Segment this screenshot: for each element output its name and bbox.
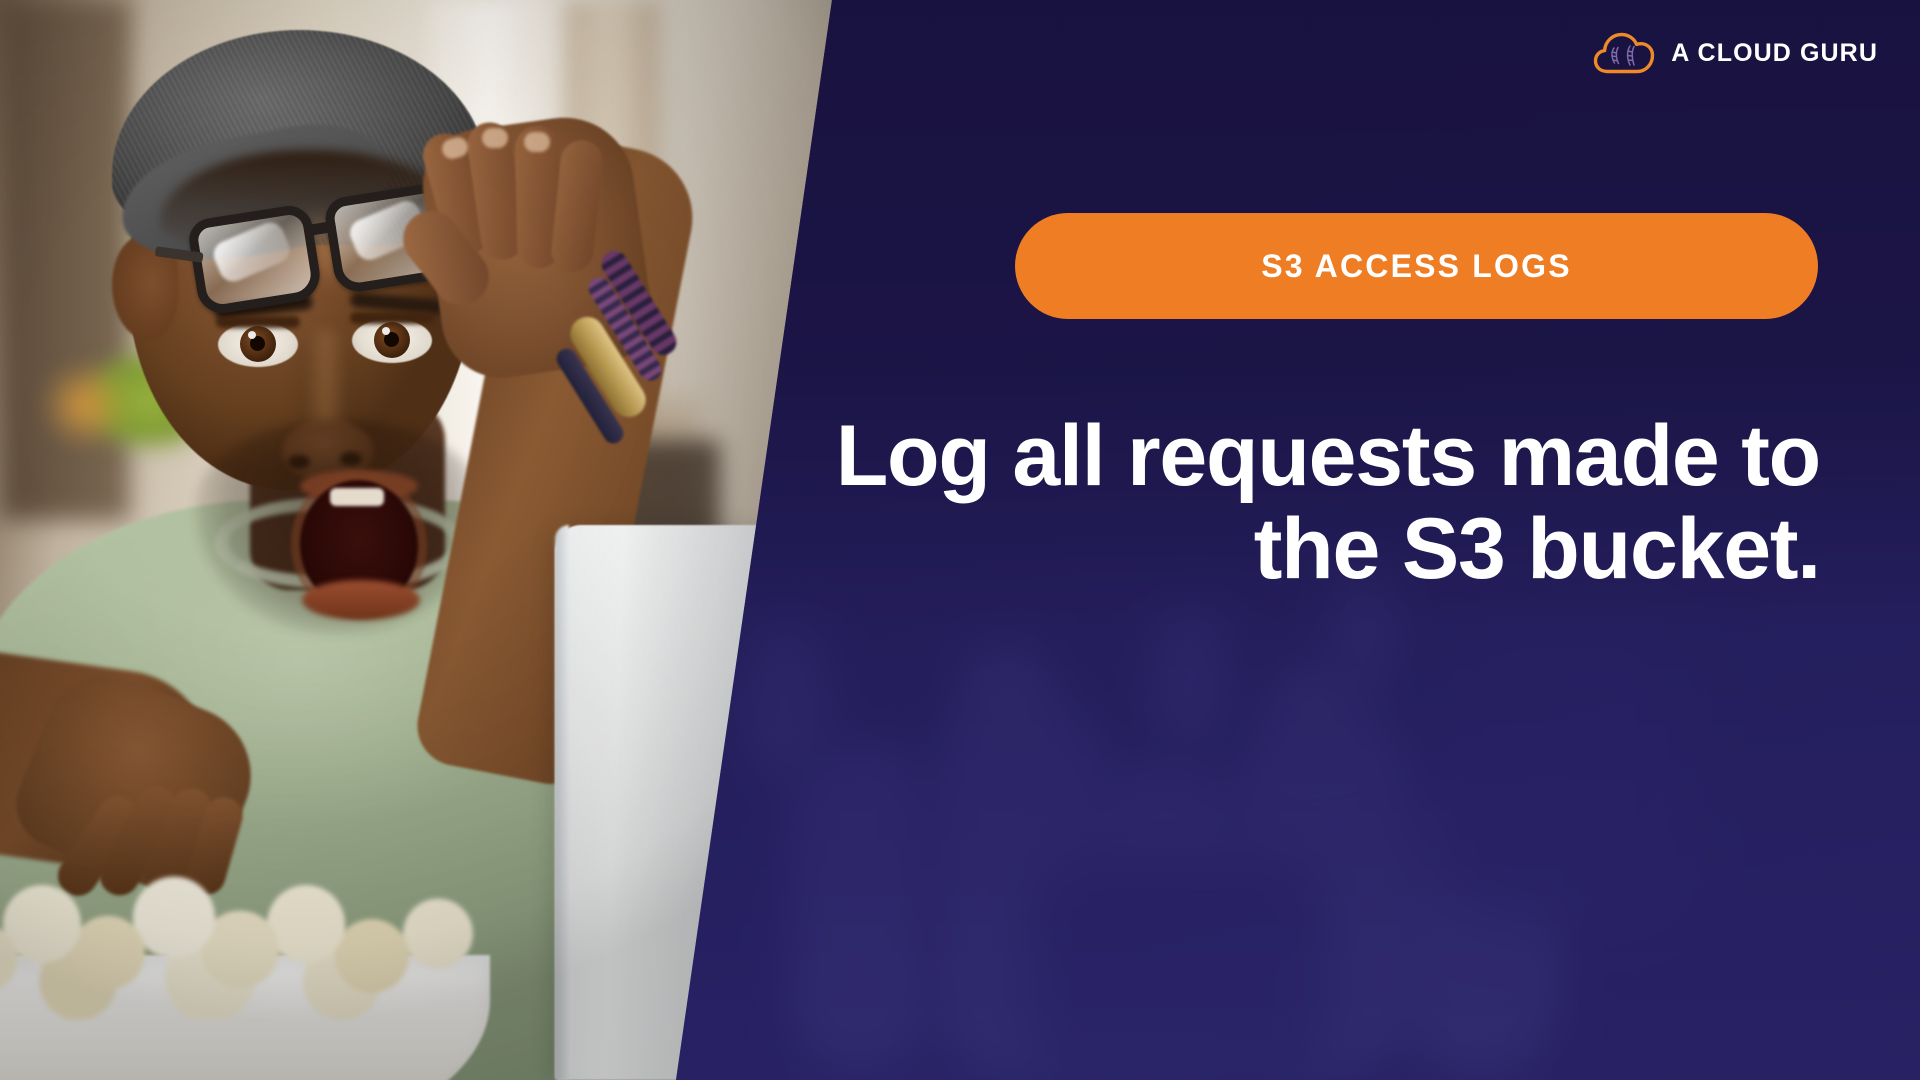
eye-glint-left <box>248 331 256 339</box>
cloud-outline-icon <box>1593 30 1655 76</box>
room-plant-secondary <box>40 360 130 450</box>
headline: Log all requests made to the S3 bucket. <box>700 410 1820 596</box>
eye-glint-right <box>382 327 390 335</box>
laptop-edge <box>555 525 569 1080</box>
badge-label: S3 ACCESS LOGS <box>1261 250 1572 282</box>
slide-root: A CLOUD GURU S3 ACCESS LOGS Log all requ… <box>0 0 1920 1080</box>
lens-glare <box>209 218 294 286</box>
fingernail <box>482 128 508 148</box>
teeth <box>330 488 384 506</box>
headline-line-2: the S3 bucket. <box>700 503 1820 596</box>
brand-logo[interactable]: A CLOUD GURU <box>1593 30 1878 76</box>
popcorn <box>0 860 510 1020</box>
eyelid-right <box>350 312 434 324</box>
lower-lip <box>302 580 420 620</box>
brand-logo-text: A CLOUD GURU <box>1671 41 1878 66</box>
headline-line-1: Log all requests made to <box>700 410 1820 503</box>
lens-left <box>186 203 323 317</box>
fingernail <box>524 132 550 152</box>
s3-access-logs-badge[interactable]: S3 ACCESS LOGS <box>1015 213 1818 319</box>
